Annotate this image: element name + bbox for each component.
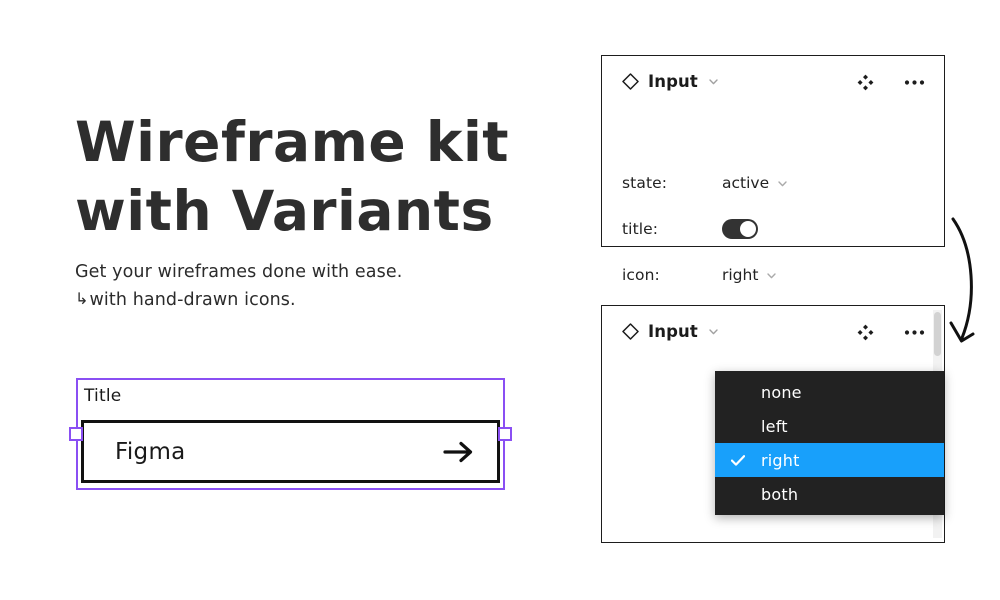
property-row-icon: icon: right (622, 262, 922, 288)
resize-handle-left[interactable] (69, 427, 83, 441)
dropdown-option-both[interactable]: both (715, 477, 944, 511)
chevron-down-icon[interactable] (707, 325, 720, 338)
component-properties-panel-bottom: Input state: title: icon: (601, 305, 945, 543)
subtitle-line: Get your wireframes done with ease. (75, 258, 535, 286)
page-title: Wireframe kit with Variants (75, 108, 545, 247)
panel-header: Input (602, 306, 944, 360)
dropdown-option-right[interactable]: right (715, 443, 944, 477)
property-toggle-title-wrapper (722, 219, 758, 239)
dropdown-option-label: both (761, 485, 944, 504)
property-select-state[interactable]: active (722, 174, 789, 192)
property-row-title: title: (622, 216, 922, 242)
component-properties-panel-top: Input state: active (601, 55, 945, 247)
property-toggle-title[interactable] (722, 219, 758, 239)
icon-options-dropdown[interactable]: none left right both (715, 371, 944, 515)
more-options-icon[interactable] (904, 329, 925, 336)
turn-down-right-arrow-icon: ↳ (75, 289, 89, 308)
panel-scrollbar-thumb[interactable] (934, 312, 941, 356)
check-slot (715, 455, 761, 466)
wireframe-input-component[interactable]: Title Figma (76, 378, 505, 490)
chevron-down-icon[interactable] (765, 269, 778, 282)
panel-component-name: Input (648, 72, 698, 91)
dropdown-option-left[interactable]: left (715, 409, 944, 443)
panel-component-name: Input (648, 322, 698, 341)
wireframe-input-value: Figma (115, 439, 186, 465)
hero-column: Wireframe kit with Variants Get your wir… (0, 0, 560, 600)
chevron-down-icon[interactable] (707, 75, 720, 88)
component-diamond-icon[interactable] (622, 323, 639, 340)
subtitle-line: ↳with hand-drawn icons. (75, 286, 535, 314)
variants-icon[interactable] (857, 324, 874, 341)
wireframe-input-field[interactable]: Figma (81, 420, 500, 483)
resize-handle-right[interactable] (498, 427, 512, 441)
panel-header-actions (857, 324, 925, 341)
toggle-knob (740, 221, 756, 237)
subtitle-text: with hand-drawn icons. (90, 290, 296, 310)
panel-header: Input (602, 56, 944, 110)
panel-header-left: Input (622, 322, 720, 341)
property-label: title: (622, 220, 722, 238)
panel-header-actions (857, 74, 925, 91)
dropdown-option-label: left (761, 417, 944, 436)
property-select-icon[interactable]: right (722, 266, 778, 284)
wireframe-title-label: Title (84, 386, 121, 406)
checkmark-icon (731, 455, 745, 466)
arrow-right-icon (443, 439, 475, 465)
chevron-down-icon[interactable] (776, 177, 789, 190)
subtitle-text: Get your wireframes done with ease. (75, 262, 402, 282)
variants-icon[interactable] (857, 74, 874, 91)
property-label: state: (622, 174, 722, 192)
property-value: right (722, 266, 758, 284)
property-row-state: state: active (622, 170, 922, 196)
dropdown-option-none[interactable]: none (715, 375, 944, 409)
hero-subtitle: Get your wireframes done with ease. ↳wit… (75, 258, 535, 315)
component-diamond-icon[interactable] (622, 73, 639, 90)
property-value: active (722, 174, 769, 192)
dropdown-option-label: right (761, 451, 944, 470)
property-label: icon: (622, 266, 722, 284)
more-options-icon[interactable] (904, 79, 925, 86)
dropdown-option-label: none (761, 383, 944, 402)
panel-header-left: Input (622, 72, 720, 91)
